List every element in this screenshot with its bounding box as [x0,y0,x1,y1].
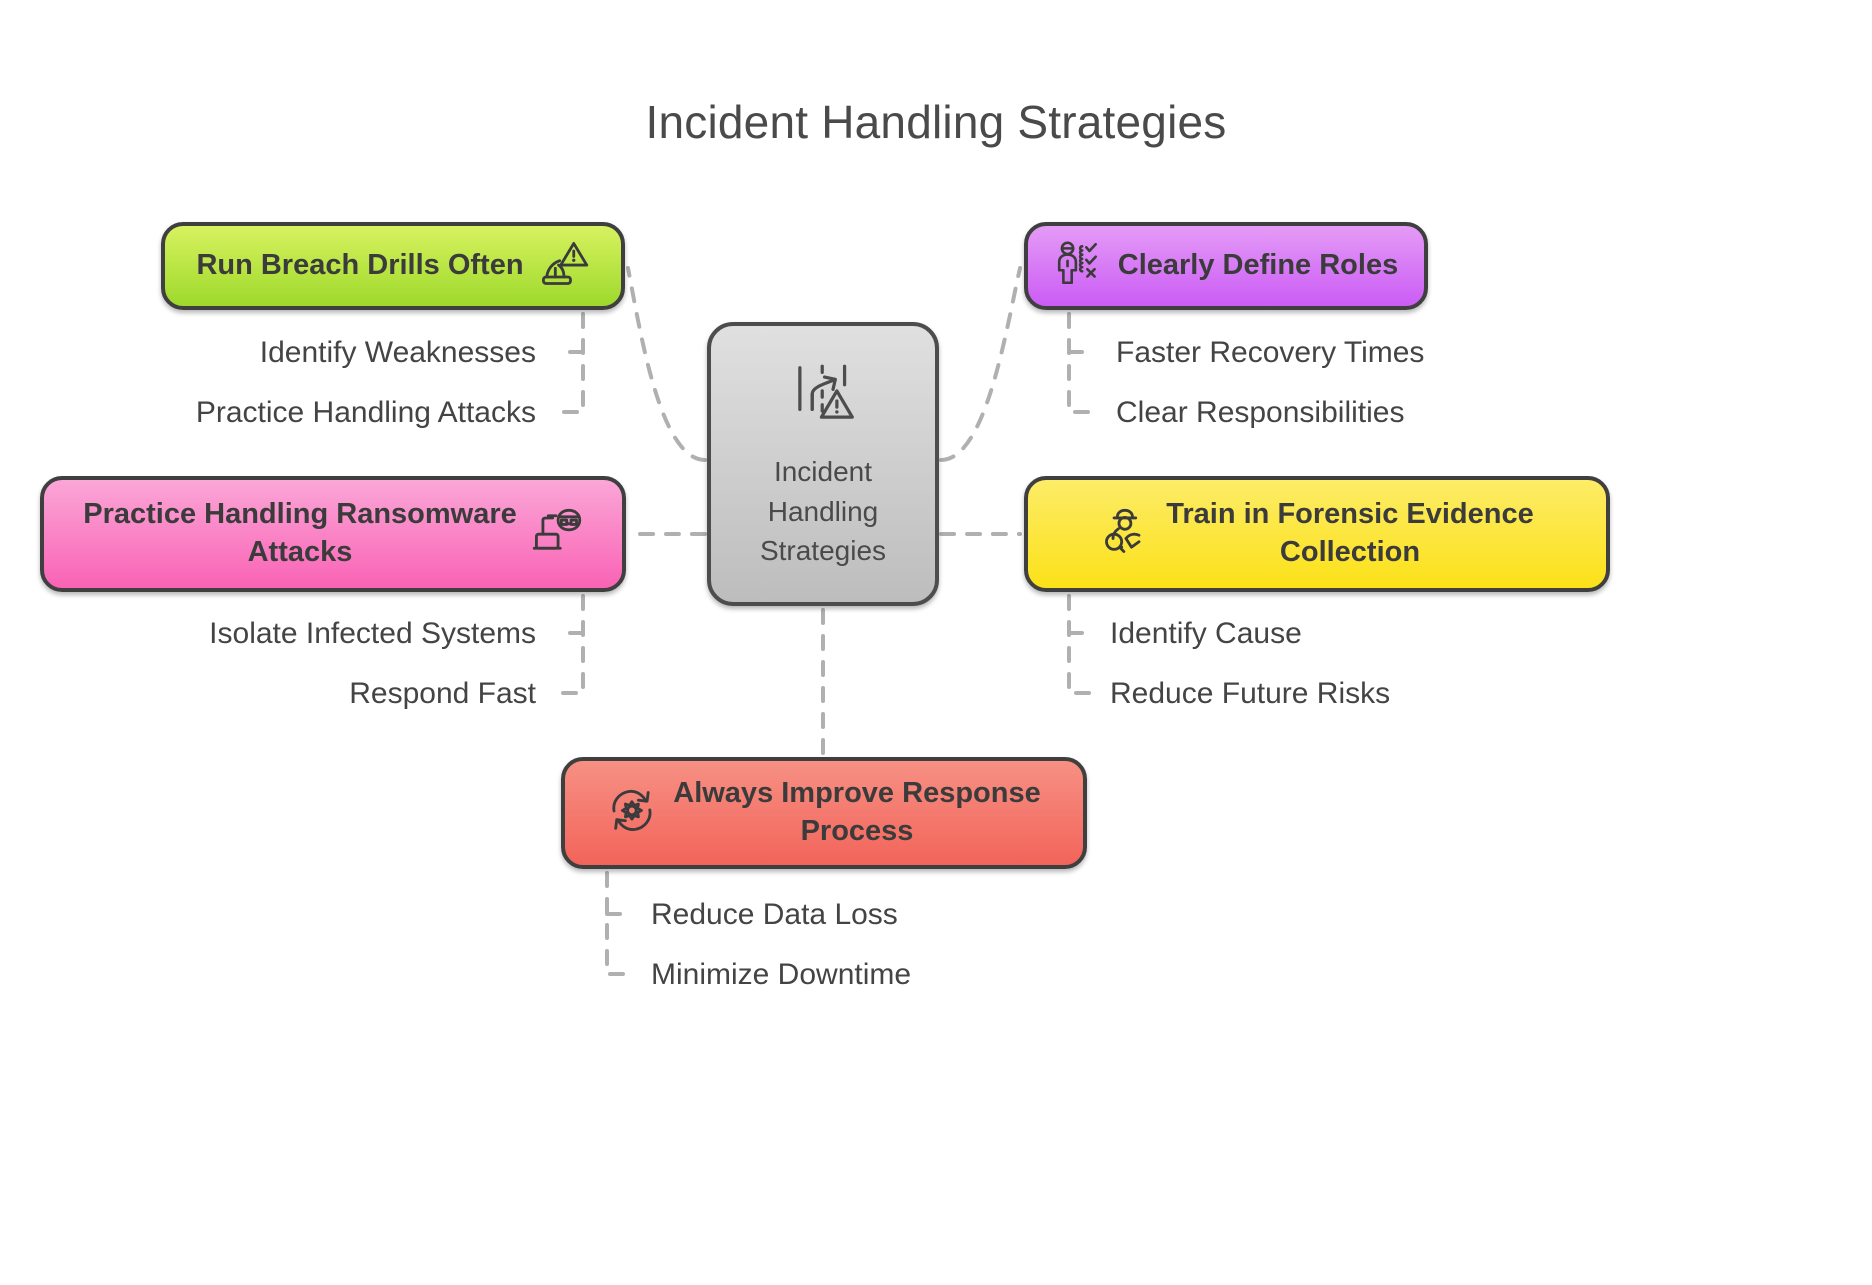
branch-label-ransom: Practice Handling Ransomware Attacks [83,496,517,571]
central-label-line3: Strategies [760,531,886,571]
branch-label-drills: Run Breach Drills Often [196,247,523,285]
branch-label-ransom-line1: Practice Handling Ransomware [83,498,517,530]
branch-label-improve-line2: Process [801,815,914,847]
sub-label-faster-recovery-times: Faster Recovery Times [1116,338,1424,368]
branch-label-roles: Clearly Define Roles [1118,247,1398,285]
sub-label-reduce-data-loss: Reduce Data Loss [651,900,898,930]
branch-node-practice-handling-ransomware-attacks[interactable]: Practice Handling Ransomware Attacks [40,476,626,592]
drill-warning-icon [538,238,590,295]
branch-node-always-improve-response-process[interactable]: Always Improve Response Process [561,757,1087,869]
sub-label-reduce-future-risks: Reduce Future Risks [1110,679,1390,709]
sub-label-clear-responsibilities: Clear Responsibilities [1116,398,1404,428]
branch-node-run-breach-drills-often[interactable]: Run Breach Drills Often [161,222,625,310]
branch-label-forensic-line2: Collection [1280,536,1420,568]
connector-drills-children [560,314,583,412]
gear-refresh-icon [607,785,659,842]
sub-label-respond-fast: Respond Fast [349,679,536,709]
central-node-label: Incident Handling Strategies [760,452,886,571]
road-warning-icon [786,357,860,436]
branch-label-forensic-line1: Train in Forensic Evidence [1166,498,1533,530]
connector-center-drills [628,268,705,460]
detective-magnifier-icon [1100,506,1152,563]
branch-label-improve-line1: Always Improve Response [673,777,1040,809]
connector-ransom-children [560,596,583,693]
sub-label-identify-cause: Identify Cause [1110,619,1302,649]
hacker-laptop-icon [531,506,583,563]
sub-label-minimize-downtime: Minimize Downtime [651,960,911,990]
page-title: Incident Handling Strategies [0,95,1872,149]
branch-node-clearly-define-roles[interactable]: Clearly Define Roles [1024,222,1428,310]
sub-label-practice-handling-attacks: Practice Handling Attacks [196,398,536,428]
connector-forensic-children [1069,596,1092,693]
person-checklist-icon [1054,239,1104,294]
connector-improve-children [607,873,630,974]
branch-label-improve: Always Improve Response Process [673,775,1040,850]
central-label-line2: Handling [760,492,886,532]
sub-label-identify-weaknesses: Identify Weaknesses [260,338,536,368]
sub-label-isolate-infected-systems: Isolate Infected Systems [209,619,536,649]
branch-node-train-in-forensic-evidence-collection[interactable]: Train in Forensic Evidence Collection [1024,476,1610,592]
branch-label-forensic: Train in Forensic Evidence Collection [1166,496,1533,571]
mindmap-canvas: Incident Handling Strategies [0,0,1872,1285]
connector-roles-children [1069,314,1092,412]
central-label-line1: Incident [760,452,886,492]
connector-center-roles [941,268,1020,460]
branch-label-ransom-line2: Attacks [248,536,353,568]
central-node-incident-handling-strategies[interactable]: Incident Handling Strategies [707,322,939,606]
